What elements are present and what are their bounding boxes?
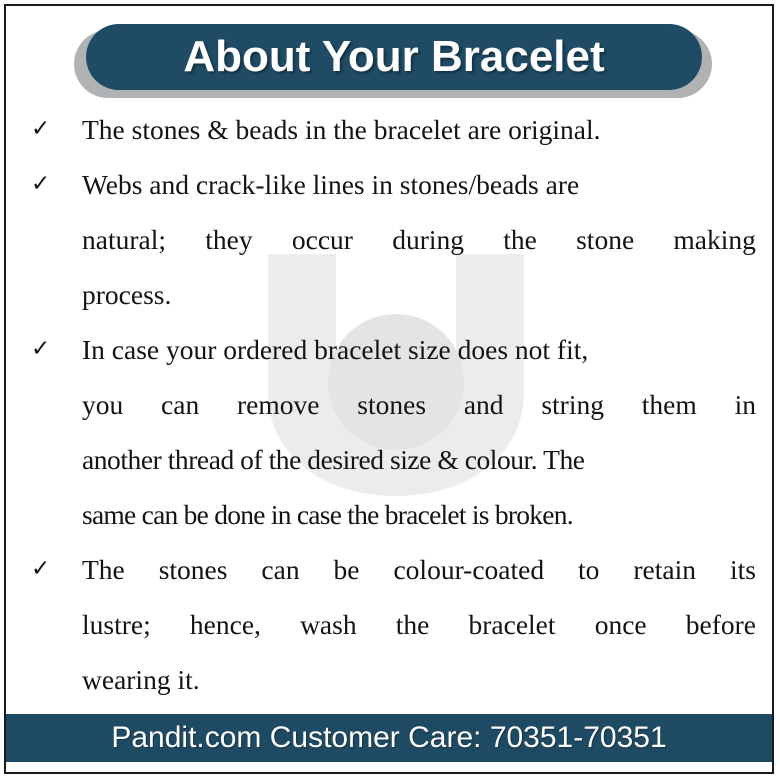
text-word: can [261, 542, 299, 597]
list-item-text: Thestonescanbecolour-coatedtoretainits l… [82, 542, 756, 707]
check-icon: ✓ [31, 542, 57, 597]
list-item-text: In case your ordered bracelet size does … [82, 322, 756, 542]
list-item: ✓ In case your ordered bracelet size doe… [6, 322, 772, 542]
header-pill: About Your Bracelet [86, 24, 702, 90]
list-item: ✓ Webs and crack-like lines in stones/be… [6, 157, 772, 322]
text-line: Thestonescanbecolour-coatedtoretainits [82, 542, 756, 597]
text-word: the [396, 597, 430, 652]
text-word: string [541, 377, 604, 432]
text-word: hence, [190, 597, 261, 652]
text-line: The stones & beads in the bracelet are o… [82, 102, 756, 157]
text-word: and [464, 377, 504, 432]
text-word: before [686, 597, 756, 652]
text-word: retain [633, 542, 696, 597]
text-line: process. [82, 267, 756, 322]
list-item: ✓ Thestonescanbecolour-coatedtoretainits… [6, 542, 772, 707]
text-word: be [334, 542, 360, 597]
text-word: during [392, 212, 464, 267]
check-icon: ✓ [31, 322, 57, 377]
text-line: same can be done in case the bracelet is… [82, 487, 756, 542]
text-line: youcanremovestonesandstringthemin [82, 377, 756, 432]
text-line: lustre;hence,washthebraceletoncebefore [82, 597, 756, 652]
text-word: wash [300, 597, 357, 652]
text-word: you [82, 377, 123, 432]
text-word: to [578, 542, 599, 597]
text-word: once [595, 597, 647, 652]
bullet-list: ✓ The stones & beads in the bracelet are… [6, 102, 772, 707]
text-word: occur [292, 212, 353, 267]
text-word: stones [357, 377, 426, 432]
page-title: About Your Bracelet [183, 35, 604, 79]
text-word: making [673, 212, 756, 267]
text-word: The [82, 542, 125, 597]
text-line: wearing it. [82, 652, 756, 707]
text-word: the [503, 212, 537, 267]
text-line: In case your ordered bracelet size does … [82, 322, 756, 377]
text-word: natural; [82, 212, 166, 267]
text-word: in [735, 377, 756, 432]
footer-bar: Pandit.com Customer Care: 70351-70351 [6, 714, 772, 762]
text-word: stone [576, 212, 634, 267]
text-word: remove [237, 377, 319, 432]
header: About Your Bracelet [6, 18, 772, 98]
check-icon: ✓ [31, 157, 57, 212]
list-item-text: The stones & beads in the bracelet are o… [82, 102, 756, 157]
text-word: stones [159, 542, 228, 597]
list-item: ✓ The stones & beads in the bracelet are… [6, 102, 772, 157]
list-item-text: Webs and crack-like lines in stones/bead… [82, 157, 756, 322]
check-icon: ✓ [31, 102, 57, 157]
text-line: natural;theyoccurduringthestonemaking [82, 212, 756, 267]
customer-care-text: Pandit.com Customer Care: 70351-70351 [111, 721, 666, 755]
text-word: them [642, 377, 697, 432]
text-word: lustre; [82, 597, 151, 652]
text-word: colour-coated [393, 542, 544, 597]
text-line: Webs and crack-like lines in stones/bead… [82, 157, 756, 212]
text-line: another thread of the desired size & col… [82, 432, 756, 487]
text-word: can [161, 377, 199, 432]
text-word: they [205, 212, 252, 267]
text-word: its [730, 542, 756, 597]
info-card: About Your Bracelet ✓ The stones & beads… [4, 4, 774, 774]
text-word: bracelet [469, 597, 556, 652]
